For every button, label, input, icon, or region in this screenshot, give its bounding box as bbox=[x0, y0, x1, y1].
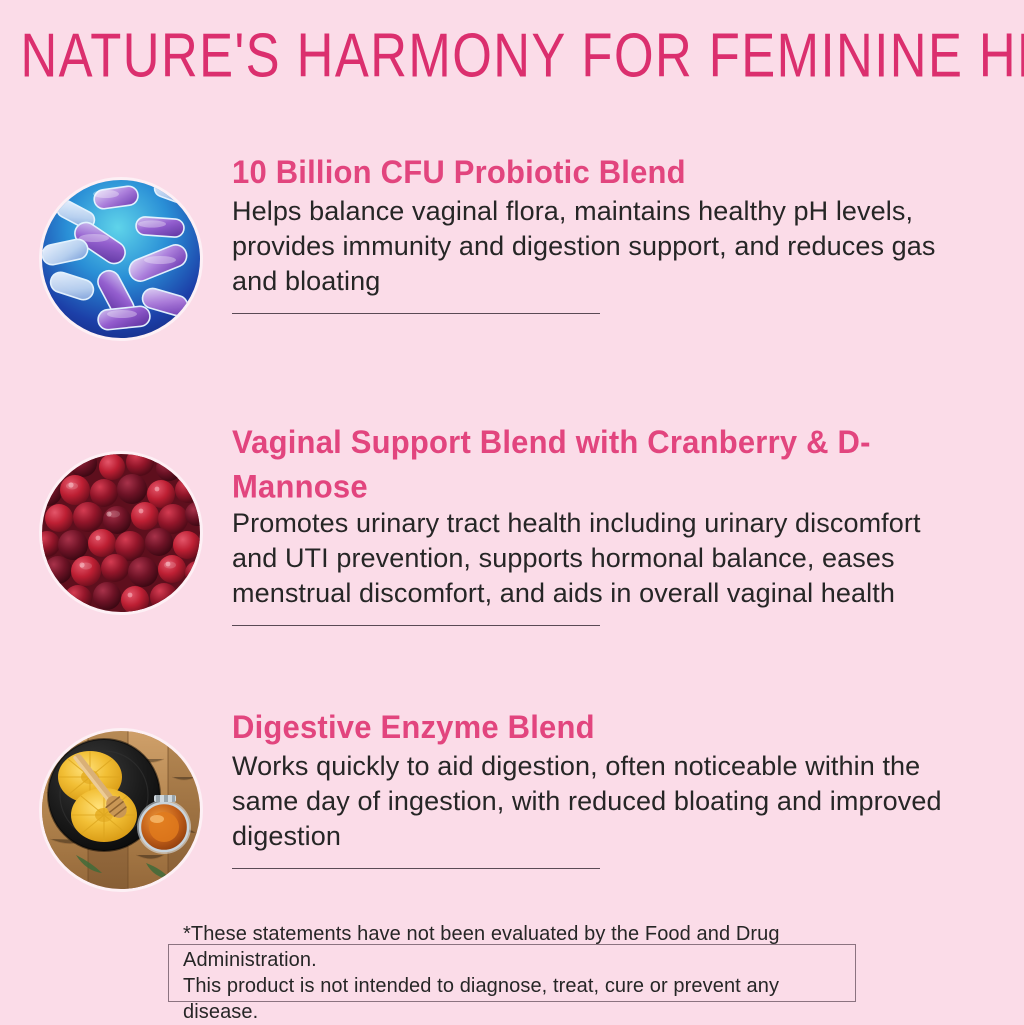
page-title: NATURE'S HARMONY FOR FEMININE HEALTH bbox=[20, 20, 1003, 93]
disclaimer-box: *These statements have not been evaluate… bbox=[168, 944, 856, 1002]
feature-media bbox=[42, 454, 200, 612]
feature-description: Promotes urinary tract health including … bbox=[232, 506, 962, 611]
feature-heading: 10 Billion CFU Probiotic Blend bbox=[232, 150, 990, 195]
feature-description: Helps balance vaginal flora, maintains h… bbox=[232, 194, 962, 299]
feature-description: Works quickly to aid digestion, often no… bbox=[232, 749, 962, 854]
pineapple-honey-image bbox=[42, 731, 200, 889]
disclaimer-line-2: This product is not intended to diagnose… bbox=[183, 973, 841, 1025]
feature-divider bbox=[232, 868, 600, 869]
feature-list: 10 Billion CFU Probiotic Blend Helps bal… bbox=[0, 150, 1024, 895]
feature-item-vaginal-support: Vaginal Support Blend with Cranberry & D… bbox=[0, 420, 1024, 705]
feature-media bbox=[42, 731, 200, 889]
feature-item-digestive-enzyme: Digestive Enzyme Blend Works quickly to … bbox=[0, 705, 1024, 895]
cranberries-image bbox=[42, 454, 200, 612]
feature-heading: Vaginal Support Blend with Cranberry & D… bbox=[232, 420, 990, 509]
probiotic-bacteria-image bbox=[42, 180, 200, 338]
feature-item-probiotic: 10 Billion CFU Probiotic Blend Helps bal… bbox=[0, 150, 1024, 420]
feature-body: Vaginal Support Blend with Cranberry & D… bbox=[232, 420, 1024, 626]
feature-media bbox=[42, 180, 200, 338]
feature-divider bbox=[232, 313, 600, 314]
disclaimer-line-1: *These statements have not been evaluate… bbox=[183, 921, 841, 973]
feature-divider bbox=[232, 625, 600, 626]
feature-body: Digestive Enzyme Blend Works quickly to … bbox=[232, 705, 1024, 869]
feature-heading: Digestive Enzyme Blend bbox=[232, 705, 990, 750]
feature-body: 10 Billion CFU Probiotic Blend Helps bal… bbox=[232, 150, 1024, 314]
